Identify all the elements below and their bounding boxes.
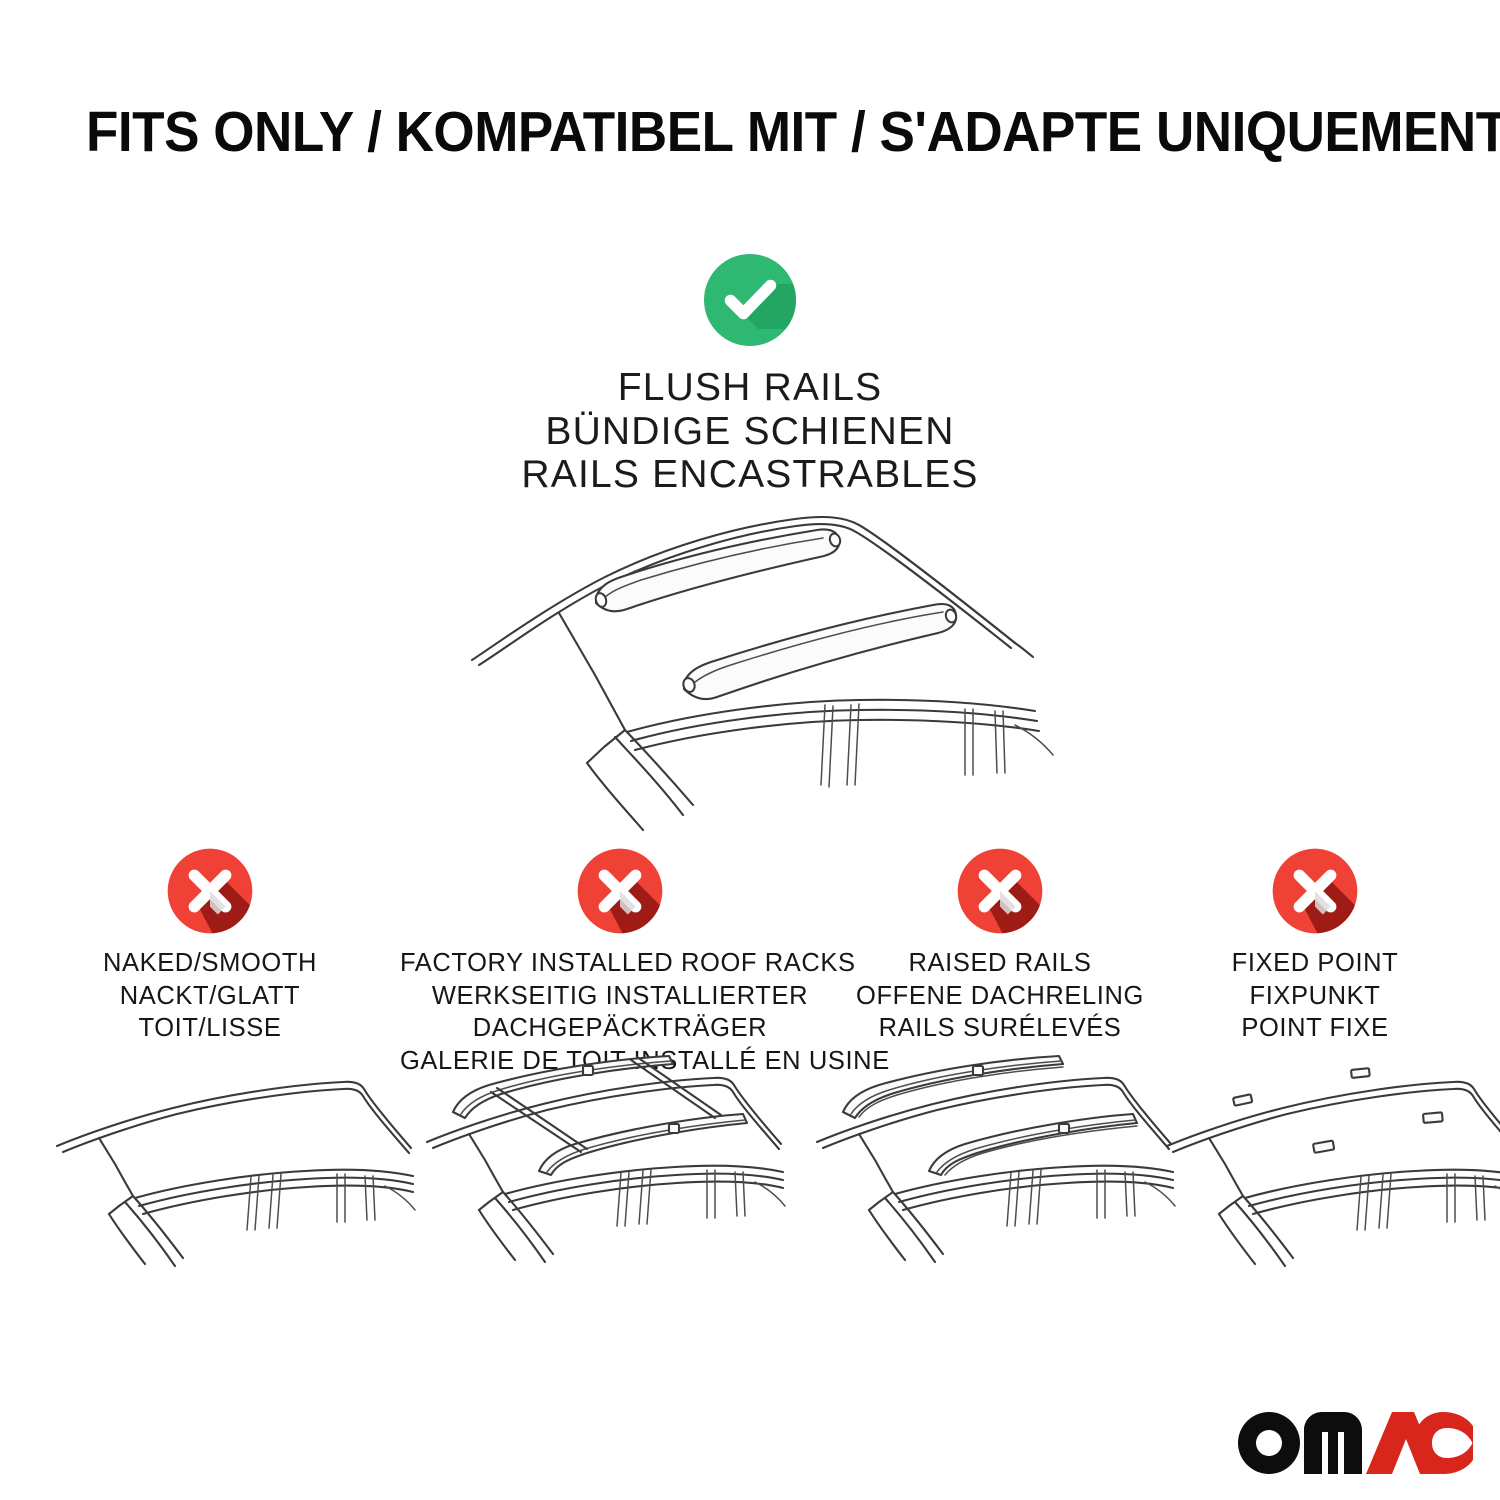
check-circle-icon [700, 250, 800, 350]
caption-line-de: NACKT/GLATT [8, 980, 412, 1013]
incompatible-caption: FIXED POINT FIXPUNKT POINT FIXE [1160, 947, 1470, 1045]
caption-line-de: FIXPUNKT [1160, 980, 1470, 1013]
caption-line-en: FIXED POINT [1160, 947, 1470, 980]
caption-line-en: NAKED/SMOOTH [8, 947, 412, 980]
incompatible-item-factory-roof-racks: FACTORY INSTALLED ROOF RACKS WERKSEITIG … [400, 845, 840, 1078]
caption-line-en: RAISED RAILS [820, 947, 1180, 980]
car-roof-raised-rails-illustration [815, 1056, 1175, 1286]
incompatible-item-raised-rails: RAISED RAILS OFFENE DACHRELING RAILS SUR… [820, 845, 1180, 1045]
cross-circle-icon [574, 845, 666, 937]
caption-line-fr: RAILS SURÉLEVÉS [820, 1012, 1180, 1045]
compatible-line-en: FLUSH RAILS [0, 366, 1500, 410]
caption-line-en: FACTORY INSTALLED ROOF RACKS [400, 947, 840, 980]
caption-line-fr: POINT FIXE [1160, 1012, 1470, 1045]
car-roof-fixed-point-illustration [1165, 1060, 1500, 1290]
compatible-section: FLUSH RAILS BÜNDIGE SCHIENEN RAILS ENCAS… [0, 250, 1500, 497]
caption-line-fr: TOIT/LISSE [8, 1012, 412, 1045]
compatible-caption: FLUSH RAILS BÜNDIGE SCHIENEN RAILS ENCAS… [0, 366, 1500, 497]
incompatible-item-naked-smooth: NAKED/SMOOTH NACKT/GLATT TOIT/LISSE [8, 845, 412, 1045]
caption-line-de: OFFENE DACHRELING [820, 980, 1180, 1013]
car-roof-factory-roof-racks-illustration [425, 1056, 785, 1286]
incompatible-caption: RAISED RAILS OFFENE DACHRELING RAILS SUR… [820, 947, 1180, 1045]
caption-line-de-1: WERKSEITIG INSTALLIERTER [400, 980, 840, 1013]
car-roof-flush-rails-illustration [455, 485, 1055, 805]
omac-logo [1238, 1412, 1473, 1474]
caption-line-de-2: DACHGEPÄCKTRÄGER [400, 1012, 840, 1045]
cross-circle-icon [954, 845, 1046, 937]
cross-circle-icon [164, 845, 256, 937]
compatible-line-de: BÜNDIGE SCHIENEN [0, 410, 1500, 454]
car-roof-naked-smooth-illustration [55, 1060, 415, 1290]
page-title: FITS ONLY / KOMPATIBEL MIT / S'ADAPTE UN… [86, 104, 1500, 161]
incompatible-item-fixed-point: FIXED POINT FIXPUNKT POINT FIXE [1160, 845, 1470, 1045]
cross-circle-icon [1269, 845, 1361, 937]
incompatible-caption: NAKED/SMOOTH NACKT/GLATT TOIT/LISSE [8, 947, 412, 1045]
